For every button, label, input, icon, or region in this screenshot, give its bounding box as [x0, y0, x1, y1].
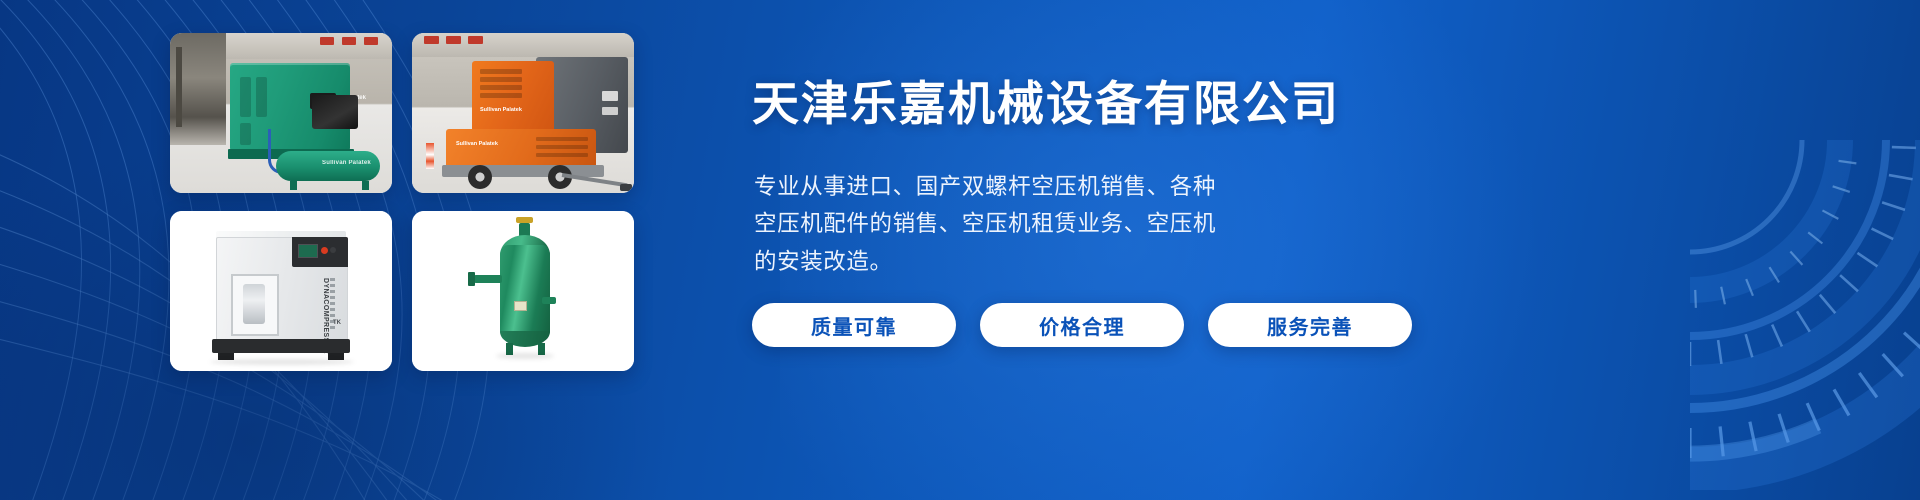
enclosure-vent: [240, 123, 251, 145]
brand-mark: Sullivan Palatek: [480, 107, 522, 113]
display-screen: [298, 244, 318, 258]
photo-scene: DYNACOMPRESSOR TK: [170, 211, 392, 371]
emergency-stop-button: [321, 247, 328, 254]
ceiling-marker: [446, 36, 461, 44]
ceiling-marker: [468, 36, 483, 44]
cabinet-base: [212, 339, 350, 353]
ceiling-marker: [424, 36, 439, 44]
side-outlet: [542, 297, 556, 304]
control-panel: [292, 237, 348, 267]
product-photo-green-stationary-compressor[interactable]: Sullivan Palatek Sullivan Palatek: [170, 33, 392, 193]
tank-leg: [362, 181, 369, 190]
factory-background: [170, 33, 226, 145]
louver: [480, 77, 522, 82]
inspection-window: [231, 274, 279, 336]
ceiling-marker: [320, 37, 334, 45]
company-description: 专业从事进口、国产双螺杆空压机销售、各种 空压机配件的销售、空压机租赁业务、空压…: [754, 168, 1340, 280]
feature-pill-group: 质量可靠 价格合理 服务完善: [752, 303, 1412, 347]
vertical-air-tank: [500, 245, 550, 341]
company-title: 天津乐嘉机械设备有限公司: [752, 78, 1340, 130]
description-line-1: 专业从事进口、国产双螺杆空压机销售、各种: [754, 168, 1340, 205]
company-promo-banner: Sullivan Palatek Sullivan Palatek: [0, 0, 1920, 500]
horizontal-air-tank: Sullivan Palatek: [276, 151, 380, 181]
feature-pill-price[interactable]: 价格合理: [980, 303, 1184, 347]
enclosure-vent: [256, 77, 267, 117]
ceiling-marker: [364, 37, 378, 45]
tank-flange-outlet: [474, 275, 502, 283]
unit-panel: [602, 91, 618, 101]
ceiling-marker: [342, 37, 356, 45]
louver: [536, 145, 588, 149]
enclosure-vent: [240, 77, 251, 117]
banner-content: 天津乐嘉机械设备有限公司 专业从事进口、国产双螺杆空压机销售、各种 空压机配件的…: [752, 0, 1512, 500]
description-line-3: 的安装改造。: [754, 243, 1340, 280]
trailer-wheel: [468, 165, 492, 189]
photo-scene: [412, 211, 634, 371]
feature-pill-quality[interactable]: 质量可靠: [752, 303, 956, 347]
tank-brand-label: Sullivan Palatek: [322, 160, 371, 166]
description-line-2: 空压机配件的销售、空压机租赁业务、空压机: [754, 205, 1340, 242]
photo-scene: Sullivan Palatek Sullivan Palatek: [412, 33, 634, 193]
product-photo-orange-portable-compressor[interactable]: Sullivan Palatek Sullivan Palatek: [412, 33, 634, 193]
tank-leg: [290, 181, 297, 190]
unit-panel: [602, 107, 618, 115]
trailer-hitch: [620, 184, 632, 191]
drop-shadow: [496, 353, 554, 359]
louver: [536, 153, 588, 157]
louver: [480, 69, 522, 74]
louver: [480, 93, 522, 98]
product-photo-white-screw-compressor[interactable]: DYNACOMPRESSOR TK: [170, 211, 392, 371]
louver: [480, 85, 522, 90]
compressor-cabinet: DYNACOMPRESSOR TK: [216, 237, 348, 343]
motor-housing-dark: [312, 95, 358, 129]
brand-mark: Sullivan Palatek: [456, 141, 498, 147]
feature-pill-service[interactable]: 服务完善: [1208, 303, 1412, 347]
louver: [536, 137, 588, 141]
model-label: TK: [333, 320, 341, 326]
safety-cone: [426, 143, 434, 169]
oil-filter: [243, 284, 265, 324]
orange-trailer-unit: Sullivan Palatek: [446, 129, 596, 169]
drop-shadow: [210, 359, 354, 365]
spec-plate: [514, 301, 527, 311]
product-photo-green-air-tank[interactable]: [412, 211, 634, 371]
photo-scene: Sullivan Palatek Sullivan Palatek: [170, 33, 392, 193]
control-button: [330, 247, 336, 253]
product-photo-grid: Sullivan Palatek Sullivan Palatek: [170, 33, 634, 371]
